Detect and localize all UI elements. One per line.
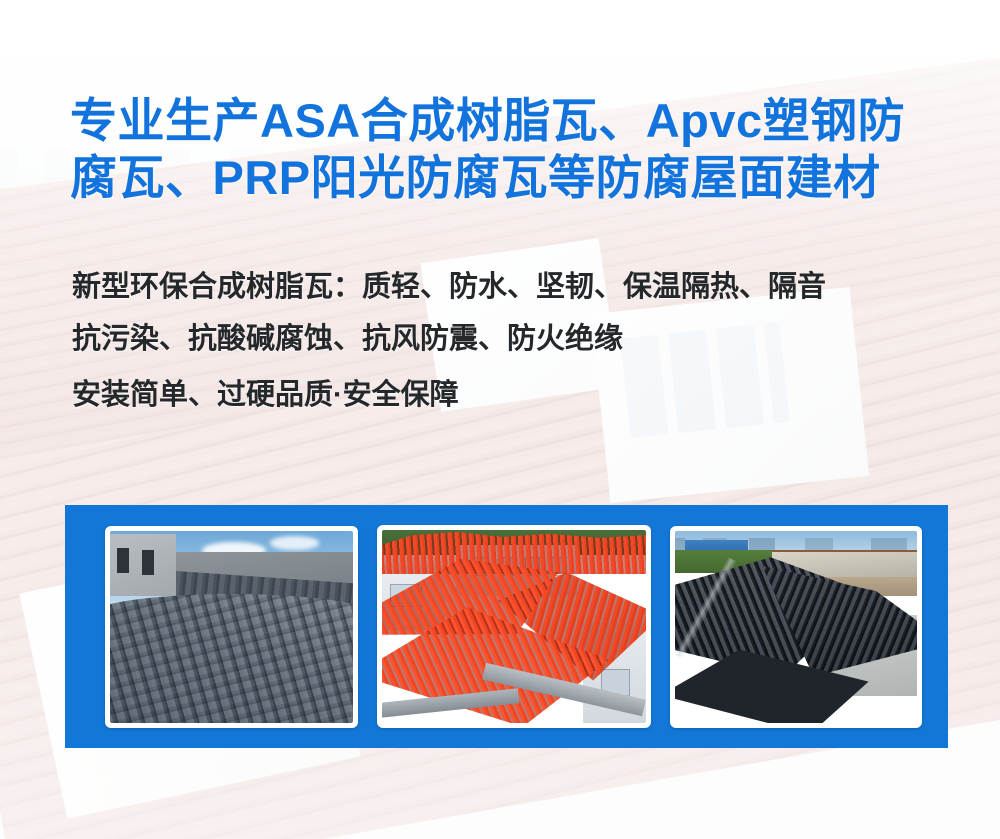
headline-line-1: 专业生产ASA合成树脂瓦、Apvc塑钢防 bbox=[70, 92, 950, 149]
photo1-cloud bbox=[270, 536, 319, 549]
photo1-grey-tile-roof bbox=[110, 594, 353, 723]
photo1-window bbox=[142, 550, 154, 575]
photo-gallery-panel bbox=[65, 505, 948, 748]
subheadline: 新型环保合成树脂瓦：质轻、防水、坚韧、保温隔热、隔音 抗污染、抗酸碱腐蚀、抗风防… bbox=[72, 272, 972, 410]
subheadline-line-1: 新型环保合成树脂瓦：质轻、防水、坚韧、保温隔热、隔音 bbox=[72, 272, 972, 302]
gallery-photo-frame-1[interactable] bbox=[105, 526, 358, 728]
grey-resin-tile-roof-photo bbox=[110, 531, 353, 723]
headline-line-2: 腐瓦、PRP阳光防腐瓦等防腐屋面建材 bbox=[70, 149, 950, 206]
subheadline-line-2: 抗污染、抗酸碱腐蚀、抗风防震、防火绝缘 bbox=[72, 324, 972, 354]
gallery-photo-frame-3[interactable] bbox=[670, 526, 922, 728]
headline: 专业生产ASA合成树脂瓦、Apvc塑钢防 腐瓦、PRP阳光防腐瓦等防腐屋面建材 bbox=[70, 92, 950, 206]
red-resin-tile-roof-photo bbox=[382, 530, 646, 723]
photo1-window bbox=[117, 548, 129, 573]
gallery-photo-frame-2[interactable] bbox=[377, 525, 651, 728]
black-resin-tile-roof-photo bbox=[675, 531, 917, 723]
subheadline-line-3: 安装简单、过硬品质·安全保障 bbox=[72, 380, 972, 410]
